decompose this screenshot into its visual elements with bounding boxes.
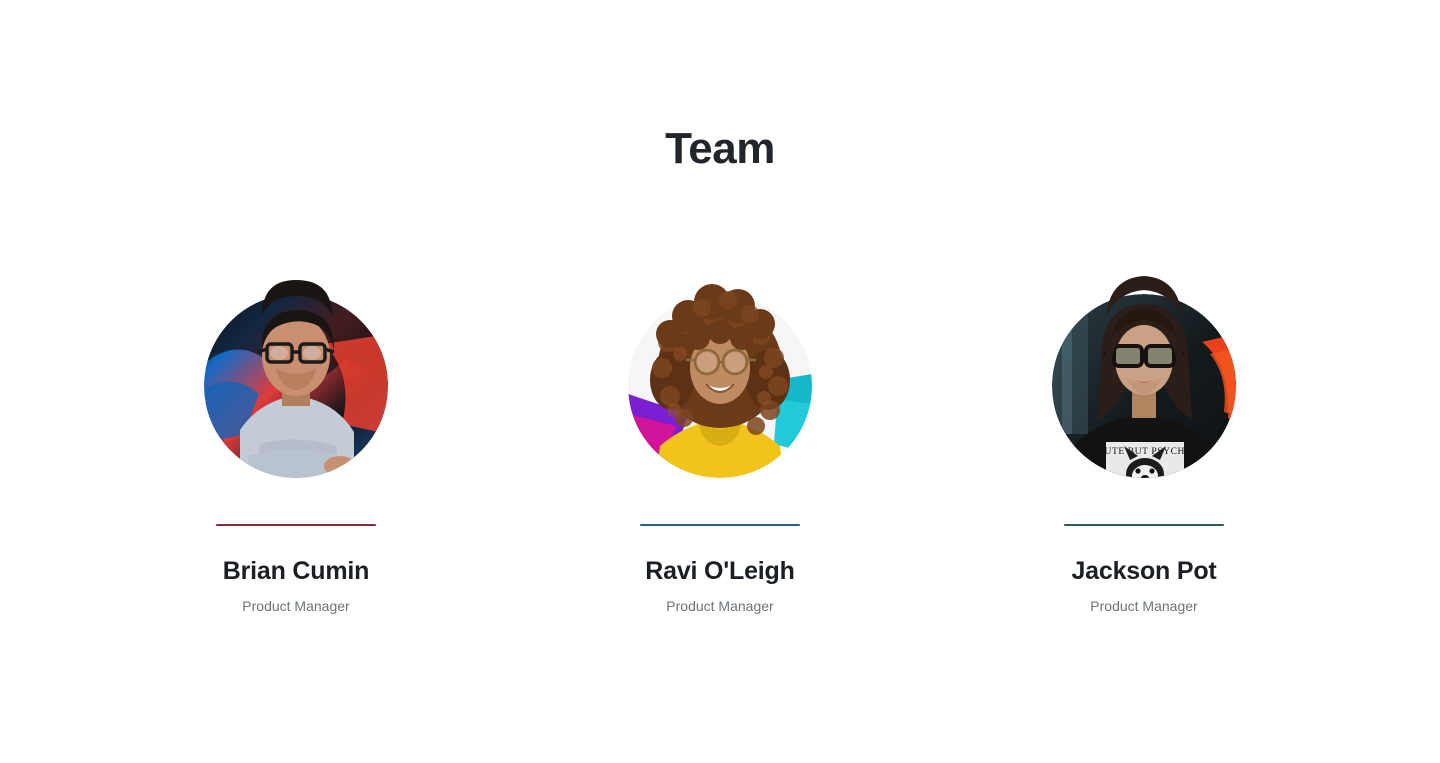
avatar <box>204 256 388 486</box>
avatar-photo-ravi-oleigh <box>628 294 812 478</box>
team-member-card[interactable]: CUTE BUT PSYCHO <box>932 256 1356 615</box>
member-role: Product Manager <box>1090 597 1197 615</box>
avatar: CUTE BUT PSYCHO <box>1052 256 1236 486</box>
avatar-photo-jackson-pot: CUTE BUT PSYCHO <box>1052 294 1236 478</box>
team-member-card[interactable]: Ravi O'Leigh Product Manager <box>508 256 932 615</box>
team-page: Team <box>0 0 1440 763</box>
member-role: Product Manager <box>242 597 349 615</box>
member-name: Jackson Pot <box>1071 556 1216 586</box>
member-name: Ravi O'Leigh <box>645 556 794 586</box>
member-divider <box>1064 524 1224 526</box>
member-name: Brian Cumin <box>223 556 369 586</box>
member-divider <box>640 524 800 526</box>
shirt-print-text: CUTE BUT PSYCHO <box>1098 447 1193 457</box>
page-title: Team <box>0 122 1440 176</box>
team-member-card[interactable]: Brian Cumin Product Manager <box>84 256 508 615</box>
avatar-photo-brian-cumin <box>204 294 388 478</box>
member-role: Product Manager <box>666 597 773 615</box>
member-divider <box>216 524 376 526</box>
team-members-grid: Brian Cumin Product Manager <box>0 256 1440 615</box>
avatar <box>628 256 812 486</box>
